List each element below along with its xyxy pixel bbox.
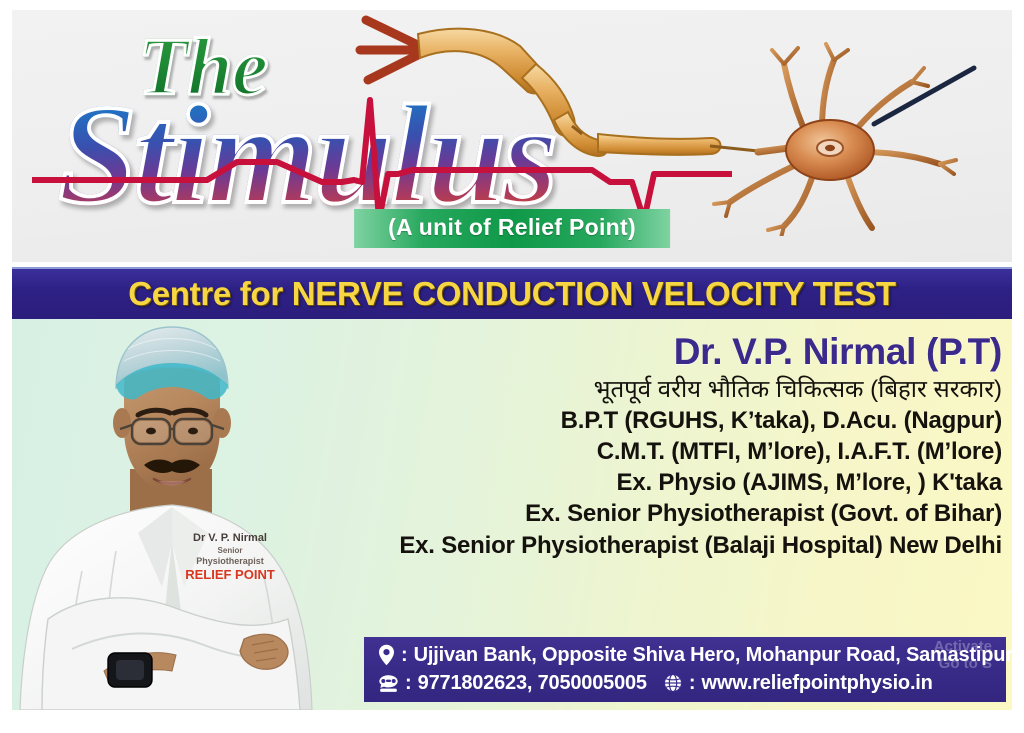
coat-embroidery-name: Dr V. P. Nirmal [193, 532, 267, 544]
phone-numbers: 9771802623, 7050005005 [418, 671, 647, 695]
centre-title-text: Centre for NERVE CONDUCTION VELOCITY TES… [128, 275, 896, 313]
credential-line: B.P.T (RGUHS, K’taka), D.Acu. (Nagpur) [312, 405, 1002, 436]
doctor-name: Dr. V.P. Nirmal (P.T) [312, 333, 1002, 372]
address-text: Ujjivan Bank, Opposite Shiva Hero, Mohan… [414, 643, 1012, 667]
address-separator: : [401, 643, 408, 667]
credentials-block: Dr. V.P. Nirmal (P.T) भूतपूर्व वरीय भौति… [312, 333, 1002, 561]
address-row: : Ujjivan Bank, Opposite Shiva Hero, Moh… [378, 643, 996, 667]
logo-panel: The Stimulus [12, 10, 1012, 262]
contact-strip: : Ujjivan Bank, Opposite Shiva Hero, Moh… [364, 637, 1006, 702]
website-text: www.reliefpointphysio.in [702, 671, 933, 695]
centre-title-bar: Centre for NERVE CONDUCTION VELOCITY TES… [12, 267, 1012, 319]
credential-line: Ex. Senior Physiotherapist (Balaji Hospi… [312, 530, 1002, 561]
credential-line: C.M.T. (MTFI, M’lore), I.A.F.T. (M’lore) [312, 436, 1002, 467]
brand-wordmark: The Stimulus [40, 14, 760, 224]
web-separator: : [689, 671, 696, 695]
coat-embroidery-role: Physiotherapist [196, 556, 264, 566]
clinic-advertisement-card: The Stimulus [0, 0, 1024, 733]
coat-embroidery-senior: Senior [218, 546, 243, 555]
phone-web-row: : 9771802623, 7050005005 : [378, 671, 996, 695]
telephone-icon [378, 674, 399, 693]
doctor-photo: Dr V. P. Nirmal Senior Physiotherapist R… [12, 319, 342, 710]
doctor-details-area: Dr V. P. Nirmal Senior Physiotherapist R… [12, 319, 1012, 710]
coat-embroidery: Dr V. P. Nirmal Senior Physiotherapist R… [185, 532, 275, 582]
credential-line: Ex. Senior Physiotherapist (Govt. of Bih… [312, 498, 1002, 529]
phone-separator: : [405, 671, 412, 695]
doctor-hindi-subtitle: भूतपूर्व वरीय भौतिक चिकित्सक (बिहार सरका… [312, 375, 1002, 405]
coat-embroidery-brand: RELIEF POINT [185, 567, 275, 582]
tagline-badge: (A unit of Relief Point) [354, 209, 670, 248]
credential-line: Ex. Physio (AJIMS, M’lore, ) K'taka [312, 467, 1002, 498]
map-pin-icon [378, 644, 395, 666]
globe-icon [663, 673, 683, 693]
